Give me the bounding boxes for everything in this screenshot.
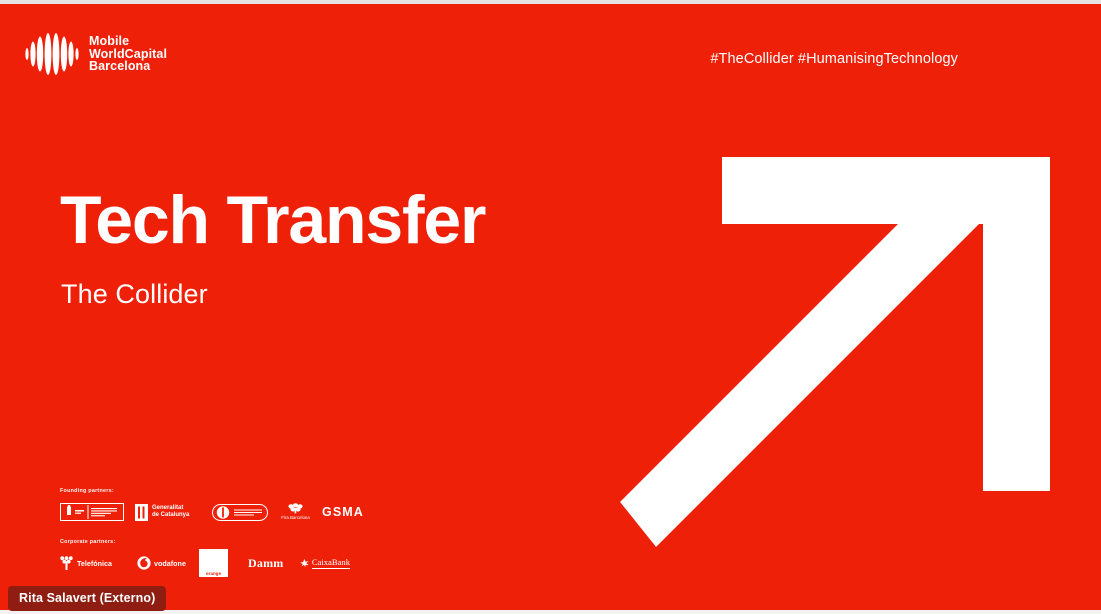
partner-logo-gobierno-de-espana bbox=[60, 501, 135, 523]
vodafone-speechmark-icon bbox=[137, 556, 151, 570]
partner-logo-vodafone: vodafone bbox=[137, 552, 199, 574]
founding-partners-block: Founding partners: bbox=[60, 488, 370, 523]
partner-logo-damm: Damm bbox=[248, 552, 300, 574]
corporate-partners-row: Telefónica vodafone orange bbox=[60, 552, 350, 574]
generalitat-shield-icon bbox=[135, 504, 148, 521]
page-title: Tech Transfer bbox=[60, 186, 485, 254]
partner-logo-caixabank: CaixaBank bbox=[300, 552, 350, 574]
brand-wordmark: Mobile WorldCapital Barcelona bbox=[89, 35, 167, 73]
hashtags-text: #TheCollider #HumanisingTechnology bbox=[710, 51, 958, 67]
founding-partners-caption: Founding partners: bbox=[60, 488, 370, 494]
partner-logo-telefonica: Telefónica bbox=[60, 552, 137, 574]
page-subtitle: The Collider bbox=[61, 281, 208, 308]
orange-wordmark: orange bbox=[206, 571, 221, 576]
fira-barcelona-flower-icon bbox=[287, 503, 304, 514]
presentation-slide: Mobile WorldCapital Barcelona #TheCollid… bbox=[0, 4, 1101, 610]
vodafone-wordmark: vodafone bbox=[154, 559, 186, 568]
partner-logo-generalitat-de-catalunya: Generalitat de Catalunya bbox=[135, 501, 212, 523]
corporate-partners-block: Corporate partners: Telefó bbox=[60, 539, 350, 574]
brand-logo: Mobile WorldCapital Barcelona bbox=[24, 30, 167, 78]
fira-barcelona-wordmark: Fira Barcelona bbox=[281, 515, 310, 520]
generalitat-wordmark: Generalitat de Catalunya bbox=[152, 505, 189, 519]
founding-partners-row: Generalitat de Catalunya bbox=[60, 501, 370, 523]
diagonal-up-right-arrow-icon bbox=[620, 149, 1060, 589]
participant-name-badge: Rita Salavert (Externo) bbox=[8, 586, 166, 611]
corporate-partners-caption: Corporate partners: bbox=[60, 539, 350, 545]
telefonica-dots-icon bbox=[60, 556, 73, 571]
caixabank-star-icon bbox=[300, 557, 309, 569]
orange-square-icon: orange bbox=[199, 549, 228, 577]
partner-logo-ajuntament-de-barcelona bbox=[212, 501, 269, 523]
brand-line-3: Barcelona bbox=[89, 60, 167, 73]
telefonica-wordmark: Telefónica bbox=[77, 559, 112, 568]
partner-logo-gsma: GSMA bbox=[322, 501, 370, 523]
caixabank-wordmark: CaixaBank bbox=[312, 557, 350, 569]
gobierno-de-espana-icon bbox=[60, 503, 124, 521]
ajuntament-barcelona-icon bbox=[212, 504, 268, 521]
mobile-world-capital-soundwave-icon bbox=[24, 30, 80, 78]
partner-logo-orange: orange bbox=[199, 552, 248, 574]
brand-line-1: Mobile bbox=[89, 35, 167, 48]
damm-wordmark: Damm bbox=[248, 556, 283, 571]
gsma-wordmark: GSMA bbox=[322, 505, 364, 519]
partner-logo-fira-barcelona: Fira Barcelona bbox=[269, 501, 322, 523]
screen-share-frame: Mobile WorldCapital Barcelona #TheCollid… bbox=[0, 0, 1101, 614]
